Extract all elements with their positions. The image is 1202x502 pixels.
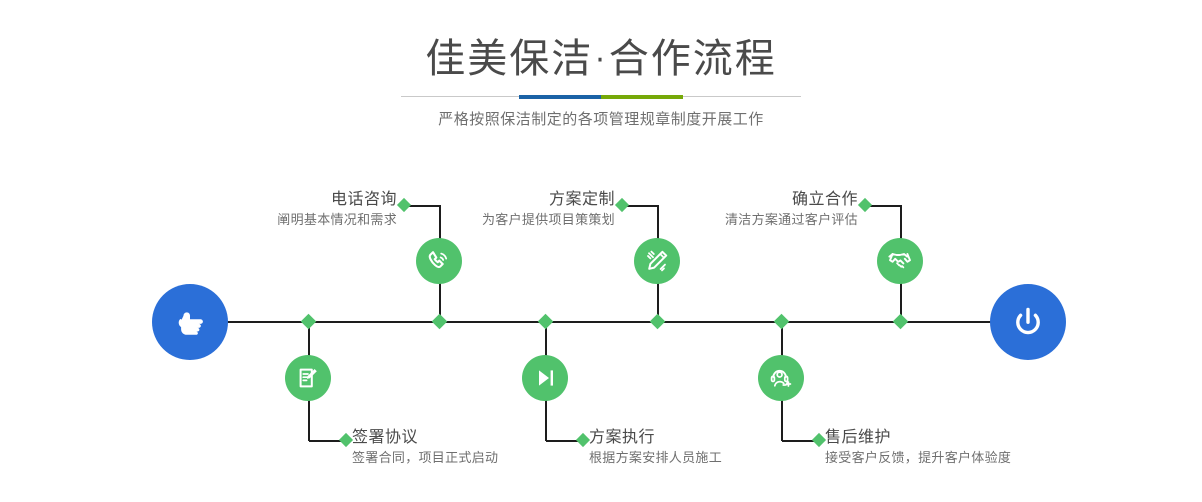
axis-marker-step-5: [893, 314, 909, 330]
step-label-4: 方案执行 根据方案安排人员施工: [589, 426, 849, 470]
step-node-4: [522, 355, 568, 401]
step-label-6: 售后维护 接受客户反馈，提升客户体验度: [825, 426, 1105, 470]
power-button-icon: [1008, 302, 1048, 342]
page-subtitle: 严格按照保洁制定的各项管理规章制度开展工作: [0, 106, 1202, 132]
divider-segment-blue: [519, 95, 601, 99]
handshake-icon: [886, 247, 914, 275]
step-desc-6: 接受客户反馈，提升客户体验度: [825, 448, 1105, 470]
axis-marker-step-6: [774, 314, 790, 330]
step-desc-2: 签署合同，项目正式启动: [352, 448, 612, 470]
divider-segment-green: [601, 95, 683, 99]
axis-marker-step-1: [432, 314, 448, 330]
page-title: 佳美保洁·合作流程: [0, 34, 1202, 86]
pointing-hand-icon: [170, 302, 210, 342]
axis-marker-step-3: [650, 314, 666, 330]
play-execute-icon: [531, 364, 559, 392]
step-label-5: 确立合作 清洁方案通过客户评估: [608, 188, 858, 232]
step-node-1: [416, 238, 462, 284]
step-desc-3: 为客户提供项目策策划: [365, 210, 615, 232]
step-node-3: [634, 238, 680, 284]
axis-marker-step-4: [538, 314, 554, 330]
step-node-2: [285, 355, 331, 401]
document-sign-icon: [294, 364, 322, 392]
label-marker-step-2: [339, 433, 353, 447]
timeline-start-badge: [152, 284, 228, 360]
pencil-ruler-icon: [643, 247, 671, 275]
step-title-1: 电话咨询: [147, 188, 397, 210]
step-label-2: 签署协议 签署合同，项目正式启动: [352, 426, 612, 470]
label-marker-step-5: [858, 198, 872, 212]
cooperation-process-infographic: 佳美保洁·合作流程 严格按照保洁制定的各项管理规章制度开展工作: [0, 0, 1202, 502]
step-title-2: 签署协议: [352, 426, 612, 448]
divider-hairline-right: [683, 96, 801, 97]
title-divider: [401, 95, 801, 98]
step-title-4: 方案执行: [589, 426, 849, 448]
page-title-left: 佳美保洁: [425, 36, 593, 82]
step-desc-1: 阐明基本情况和需求: [147, 210, 397, 232]
customer-service-add-icon: [767, 364, 795, 392]
axis-marker-step-2: [301, 314, 317, 330]
timeline-end-badge: [990, 284, 1066, 360]
title-separator-dot: ·: [593, 43, 609, 78]
step-title-6: 售后维护: [825, 426, 1105, 448]
page-title-right: 合作流程: [609, 36, 777, 82]
step-label-1: 电话咨询 阐明基本情况和需求: [147, 188, 397, 232]
step-desc-5: 清洁方案通过客户评估: [608, 210, 858, 232]
step-node-6: [758, 355, 804, 401]
phone-call-icon: [425, 247, 453, 275]
step-desc-4: 根据方案安排人员施工: [589, 448, 849, 470]
header: 佳美保洁·合作流程 严格按照保洁制定的各项管理规章制度开展工作: [0, 0, 1202, 150]
step-title-5: 确立合作: [608, 188, 858, 210]
divider-hairline-left: [401, 96, 519, 97]
step-node-5: [877, 238, 923, 284]
